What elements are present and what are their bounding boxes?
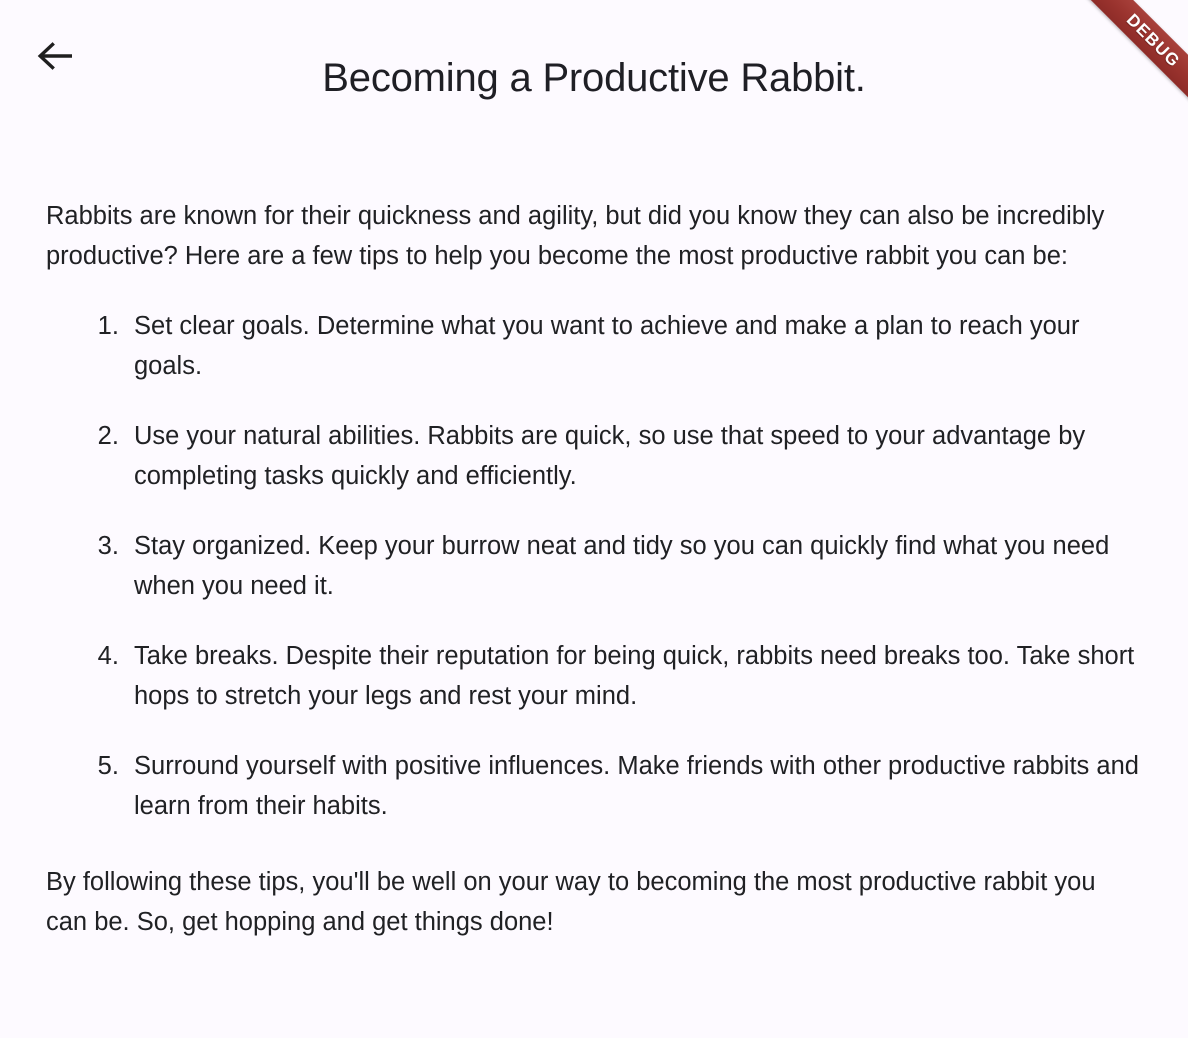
list-item: Set clear goals. Determine what you want… [126, 306, 1142, 386]
back-button[interactable] [30, 32, 82, 80]
list-item: Stay organized. Keep your burrow neat an… [126, 526, 1142, 606]
tips-list: Set clear goals. Determine what you want… [46, 306, 1142, 826]
list-item: Surround yourself with positive influenc… [126, 746, 1142, 826]
list-item: Take breaks. Despite their reputation fo… [126, 636, 1142, 716]
article-content: Rabbits are known for their quickness an… [0, 196, 1188, 942]
back-arrow-icon [37, 40, 75, 72]
intro-paragraph: Rabbits are known for their quickness an… [46, 196, 1131, 276]
list-item: Use your natural abilities. Rabbits are … [126, 416, 1142, 496]
page-title: Becoming a Productive Rabbit. [0, 55, 1188, 101]
app-bar: Becoming a Productive Rabbit. [0, 0, 1188, 110]
outro-paragraph: By following these tips, you'll be well … [46, 862, 1131, 942]
